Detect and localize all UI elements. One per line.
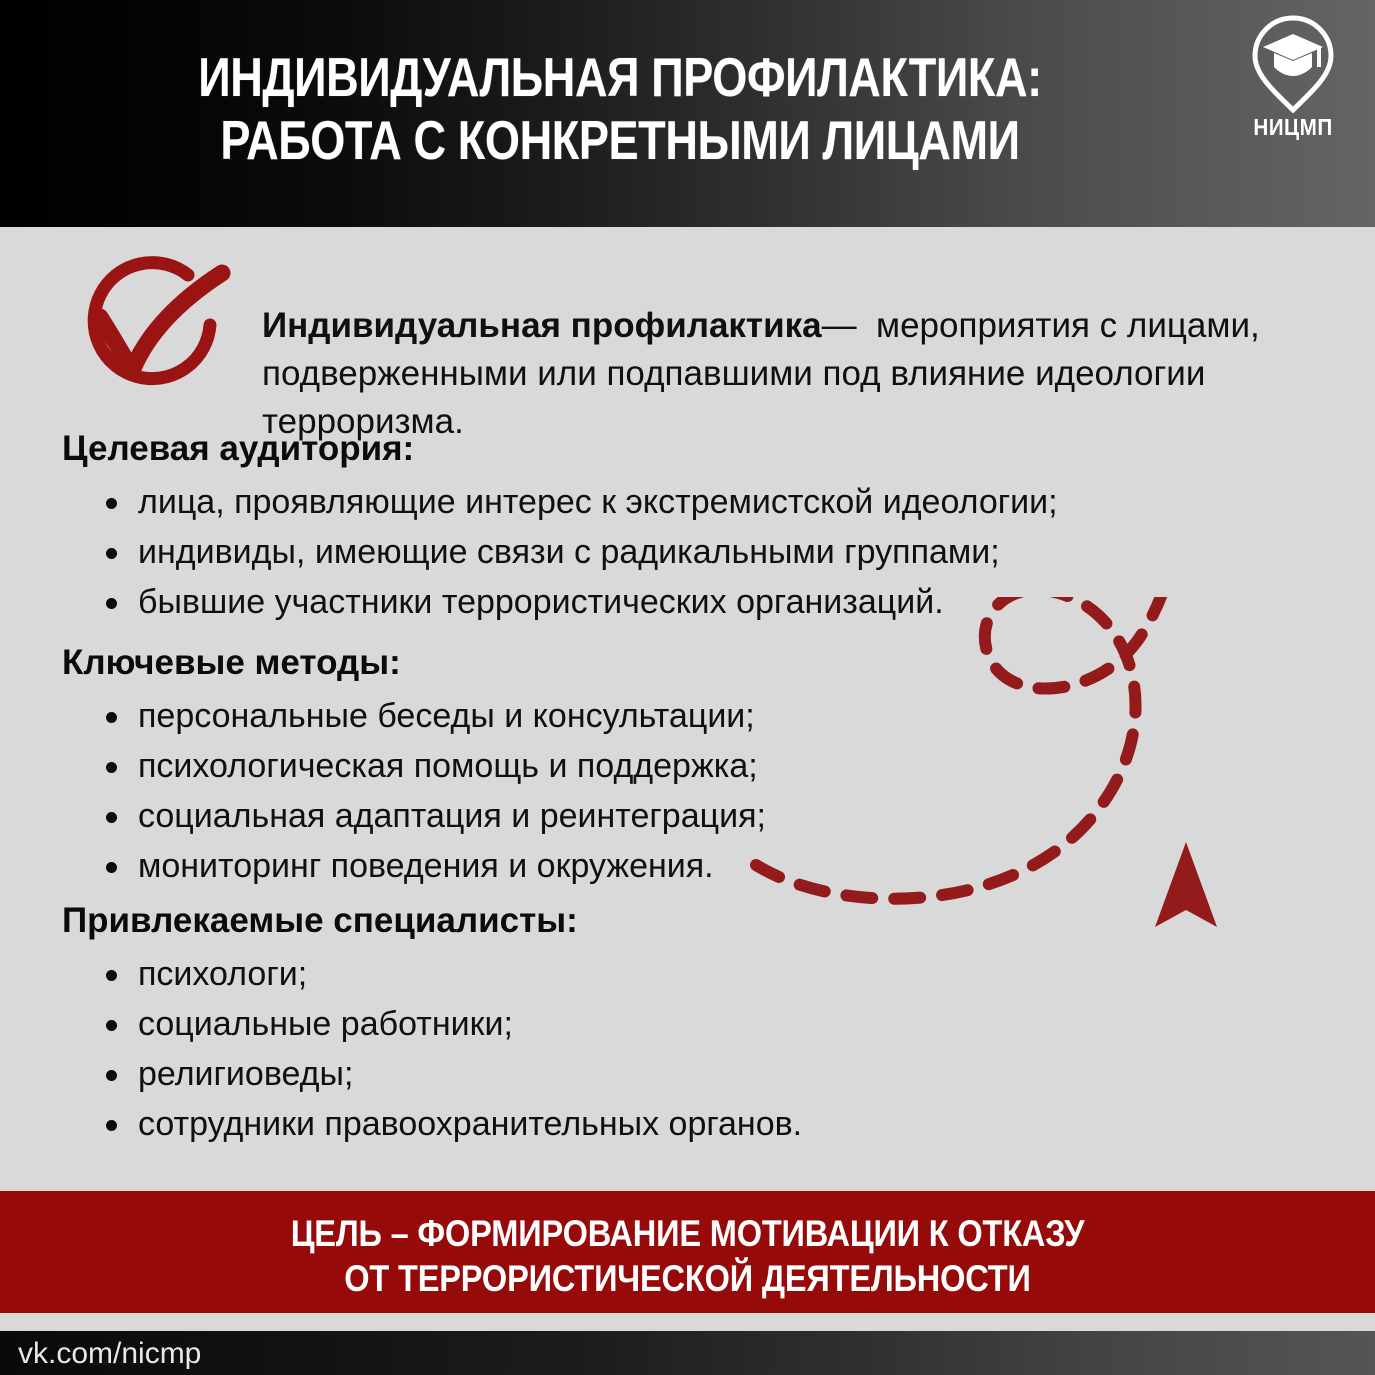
header-bar: ИНДИВИДУАЛЬНАЯ ПРОФИЛАКТИКА: РАБОТА С КО… — [0, 0, 1375, 227]
logo-abbreviation: НИЦМП — [1243, 114, 1344, 141]
list-item: индивиды, имеющие связи с радикальными г… — [62, 527, 1302, 577]
bullet-list-methods: персональные беседы и консультации; псих… — [62, 691, 1302, 891]
list-item-label: лица, проявляющие интерес к экстремистск… — [138, 483, 1058, 521]
page-title: ИНДИВИДУАЛЬНАЯ ПРОФИЛАКТИКА: РАБОТА С КО… — [112, 46, 1129, 172]
bullet-list-audience: лица, проявляющие интерес к экстремистск… — [62, 477, 1302, 627]
section-title-experts: Привлекаемые специалисты: — [62, 899, 1302, 943]
bullet-dot-icon — [106, 598, 117, 609]
list-item: бывшие участники террористических органи… — [62, 577, 1302, 627]
bullet-dot-icon — [106, 970, 117, 981]
list-item: сотрудники правоохранительных органов. — [62, 1099, 1302, 1149]
list-item: социальные работники; — [62, 999, 1302, 1049]
section-title-audience: Целевая аудитория: — [62, 427, 1302, 471]
bullet-dot-icon — [106, 1070, 117, 1081]
bullet-list-experts: психологи; социальные работники; религио… — [62, 949, 1302, 1149]
list-item-label: мониторинг поведения и окружения. — [138, 847, 714, 885]
content-area: Индивидуальная профилактика— мероприятия… — [0, 227, 1375, 1191]
section-title-methods: Ключевые методы: — [62, 641, 1302, 685]
infographic-poster: ИНДИВИДУАЛЬНАЯ ПРОФИЛАКТИКА: РАБОТА С КО… — [0, 0, 1375, 1375]
list-item: психологическая помощь и поддержка; — [62, 741, 1302, 791]
bullet-dot-icon — [106, 1020, 117, 1031]
list-item-label: бывшие участники террористических органи… — [138, 583, 944, 621]
bullet-dot-icon — [106, 762, 117, 773]
definition-term: Индивидуальная профилактика — [262, 306, 822, 345]
list-item: религиоведы; — [62, 1049, 1302, 1099]
list-item-label: сотрудники правоохранительных органов. — [138, 1105, 802, 1143]
list-item-label: социальная адаптация и реинтеграция; — [138, 797, 766, 835]
bullet-dot-icon — [106, 498, 117, 509]
bullet-dot-icon — [106, 812, 117, 823]
vk-link[interactable]: vk.com/nicmp — [18, 1337, 201, 1371]
list-item-label: психологическая помощь и поддержка; — [138, 747, 758, 785]
logo: НИЦМП — [1237, 14, 1349, 150]
list-item: социальная адаптация и реинтеграция; — [62, 791, 1302, 841]
definition-dash: — — [822, 306, 857, 345]
goal-banner-text: ЦЕЛЬ – ФОРМИРОВАНИЕ МОТИВАЦИИ К ОТКАЗУ О… — [83, 1211, 1293, 1301]
definition-paragraph: Индивидуальная профилактика— мероприятия… — [262, 302, 1262, 446]
section-audience: Целевая аудитория: лица, проявляющие инт… — [62, 427, 1302, 627]
footer-bar: vk.com/nicmp — [0, 1331, 1375, 1375]
bullet-dot-icon — [106, 712, 117, 723]
list-item: мониторинг поведения и окружения. — [62, 841, 1302, 891]
bullet-dot-icon — [106, 1120, 117, 1131]
list-item-label: психологи; — [138, 955, 307, 993]
bullet-dot-icon — [106, 548, 117, 559]
list-item-label: религиоведы; — [138, 1055, 353, 1093]
list-item: персональные беседы и консультации; — [62, 691, 1302, 741]
section-methods: Ключевые методы: персональные беседы и к… — [62, 641, 1302, 891]
list-item: лица, проявляющие интерес к экстремистск… — [62, 477, 1302, 527]
section-experts: Привлекаемые специалисты: психологи; соц… — [62, 899, 1302, 1149]
list-item-label: социальные работники; — [138, 1005, 513, 1043]
list-item-label: персональные беседы и консультации; — [138, 697, 755, 735]
bullet-dot-icon — [106, 862, 117, 873]
list-item: психологи; — [62, 949, 1302, 999]
location-pin-graduation-cap-icon — [1237, 14, 1349, 114]
separator-strip — [0, 1313, 1375, 1331]
list-item-label: индивиды, имеющие связи с радикальными г… — [138, 533, 1000, 571]
goal-banner: ЦЕЛЬ – ФОРМИРОВАНИЕ МОТИВАЦИИ К ОТКАЗУ О… — [0, 1191, 1375, 1313]
circle-checkmark-icon — [62, 253, 242, 403]
